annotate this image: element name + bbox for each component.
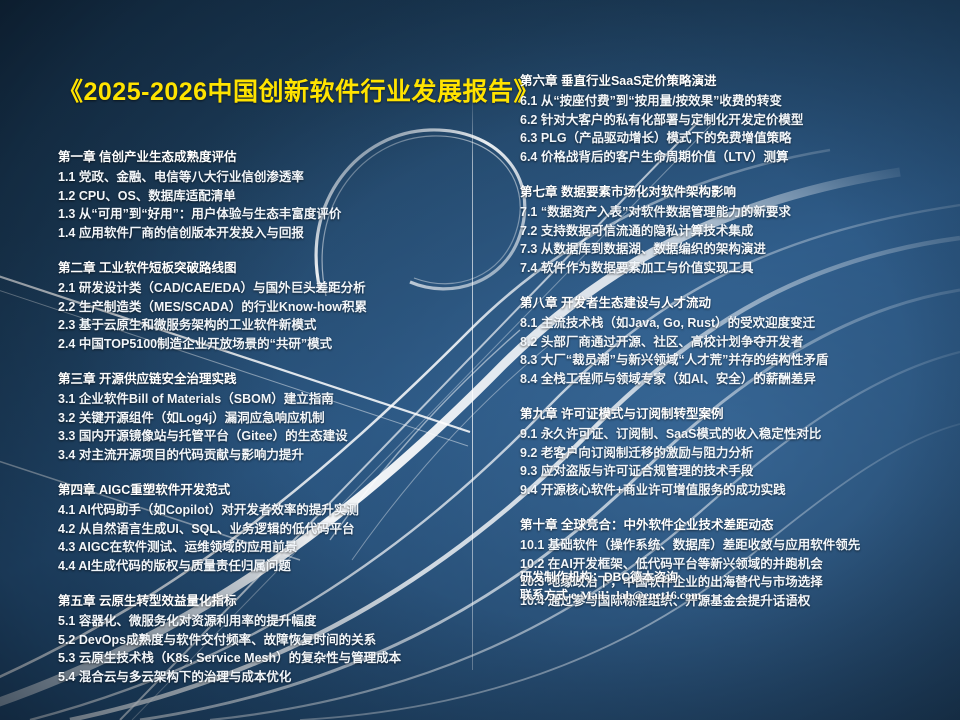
page-title: 《2025-2026中国创新软件行业发展报告》 xyxy=(58,72,539,108)
chapter-title: 第七章 数据要素市场化对软件架构影响 xyxy=(520,183,940,201)
chapter-item: 6.4 价格战背后的客户生命周期价值（LTV）测算 xyxy=(520,148,940,167)
chapter-block: 第二章 工业软件短板突破路线图 2.1 研发设计类（CAD/CAE/EDA）与国… xyxy=(58,259,478,353)
chapter-item: 6.1 从“按座付费”到“按用量/按效果”收费的转变 xyxy=(520,92,940,111)
chapter-item: 7.4 软件作为数据要素加工与价值实现工具 xyxy=(520,259,940,278)
chapter-title: 第二章 工业软件短板突破路线图 xyxy=(58,259,478,277)
chapter-item: 4.3 AIGC在软件测试、运维领域的应用前景 xyxy=(58,538,478,557)
chapter-title: 第五章 云原生转型效益量化指标 xyxy=(58,592,478,610)
chapter-item: 3.3 国内开源镜像站与托管平台（Gitee）的生态建设 xyxy=(58,427,478,446)
chapter-item: 8.4 全栈工程师与领域专家（如AI、安全）的薪酬差异 xyxy=(520,370,940,389)
chapter-item: 1.2 CPU、OS、数据库适配清单 xyxy=(58,187,478,206)
footer-contact-email: 联系方式 e-Mail：lab@enet16.com xyxy=(520,586,701,604)
chapter-title: 第三章 开源供应链安全治理实践 xyxy=(58,370,478,388)
toc-right-column: 第六章 垂直行业SaaS定价策略演进 6.1 从“按座付费”到“按用量/按效果”… xyxy=(520,72,940,610)
chapter-item: 5.3 云原生技术栈（K8s, Service Mesh）的复杂性与管理成本 xyxy=(58,649,478,668)
chapter-block: 第八章 开发者生态建设与人才流动 8.1 主流技术栈（如Java, Go, Ru… xyxy=(520,294,940,388)
chapter-item: 1.3 从“可用”到“好用”：用户体验与生态丰富度评价 xyxy=(58,205,478,224)
chapter-title: 第四章 AIGC重塑软件开发范式 xyxy=(58,481,478,499)
chapter-item: 4.2 从自然语言生成UI、SQL、业务逻辑的低代码平台 xyxy=(58,520,478,539)
chapter-item: 1.4 应用软件厂商的信创版本开发投入与回报 xyxy=(58,224,478,243)
chapter-item: 7.2 支持数据可信流通的隐私计算技术集成 xyxy=(520,222,940,241)
chapter-title: 第十章 全球竞合：中外软件企业技术差距动态 xyxy=(520,516,940,534)
chapter-item: 6.2 针对大客户的私有化部署与定制化开发定价模型 xyxy=(520,111,940,130)
footer-organization: 研发制作机构：DBC德本咨询 xyxy=(520,568,701,586)
chapter-item: 3.1 企业软件Bill of Materials（SBOM）建立指南 xyxy=(58,390,478,409)
chapter-item: 4.4 AI生成代码的版权与质量责任归属问题 xyxy=(58,557,478,576)
chapter-item: 7.3 从数据库到数据湖、数据编织的架构演进 xyxy=(520,240,940,259)
chapter-item: 2.1 研发设计类（CAD/CAE/EDA）与国外巨头差距分析 xyxy=(58,279,478,298)
chapter-block: 第九章 许可证模式与订阅制转型案例 9.1 永久许可证、订阅制、SaaS模式的收… xyxy=(520,405,940,499)
chapter-item: 5.2 DevOps成熟度与软件交付频率、故障恢复时间的关系 xyxy=(58,631,478,650)
chapter-item: 8.1 主流技术栈（如Java, Go, Rust）的受欢迎度变迁 xyxy=(520,314,940,333)
chapter-item: 2.2 生产制造类（MES/SCADA）的行业Know-how积累 xyxy=(58,298,478,317)
presentation-slide: 《2025-2026中国创新软件行业发展报告》 第一章 信创产业生态成熟度评估 … xyxy=(0,0,960,720)
chapter-item: 8.3 大厂“裁员潮”与新兴领域“人才荒”并存的结构性矛盾 xyxy=(520,351,940,370)
chapter-block: 第一章 信创产业生态成熟度评估 1.1 党政、金融、电信等八大行业信创渗透率 1… xyxy=(58,148,478,242)
chapter-block: 第七章 数据要素市场化对软件架构影响 7.1 “数据资产入表”对软件数据管理能力… xyxy=(520,183,940,277)
chapter-item: 2.4 中国TOP5100制造企业开放场景的“共研”模式 xyxy=(58,335,478,354)
chapter-item: 3.4 对主流开源项目的代码贡献与影响力提升 xyxy=(58,446,478,465)
chapter-title: 第六章 垂直行业SaaS定价策略演进 xyxy=(520,72,940,90)
chapter-item: 10.1 基础软件（操作系统、数据库）差距收敛与应用软件领先 xyxy=(520,536,940,555)
footer-credits: 研发制作机构：DBC德本咨询 联系方式 e-Mail：lab@enet16.co… xyxy=(520,568,701,604)
chapter-item: 9.1 永久许可证、订阅制、SaaS模式的收入稳定性对比 xyxy=(520,425,940,444)
chapter-item: 5.1 容器化、微服务化对资源利用率的提升幅度 xyxy=(58,612,478,631)
chapter-block: 第四章 AIGC重塑软件开发范式 4.1 AI代码助手（如Copilot）对开发… xyxy=(58,481,478,575)
chapter-title: 第八章 开发者生态建设与人才流动 xyxy=(520,294,940,312)
chapter-item: 5.4 混合云与多云架构下的治理与成本优化 xyxy=(58,668,478,687)
chapter-item: 9.2 老客户向订阅制迁移的激励与阻力分析 xyxy=(520,444,940,463)
chapter-item: 9.3 应对盗版与许可证合规管理的技术手段 xyxy=(520,462,940,481)
chapter-item: 1.1 党政、金融、电信等八大行业信创渗透率 xyxy=(58,168,478,187)
chapter-title: 第九章 许可证模式与订阅制转型案例 xyxy=(520,405,940,423)
chapter-item: 3.2 关键开源组件（如Log4j）漏洞应急响应机制 xyxy=(58,409,478,428)
chapter-item: 8.2 头部厂商通过开源、社区、高校计划争夺开发者 xyxy=(520,333,940,352)
chapter-item: 6.3 PLG（产品驱动增长）模式下的免费增值策略 xyxy=(520,129,940,148)
chapter-block: 第六章 垂直行业SaaS定价策略演进 6.1 从“按座付费”到“按用量/按效果”… xyxy=(520,72,940,166)
chapter-item: 2.3 基于云原生和微服务架构的工业软件新模式 xyxy=(58,316,478,335)
chapter-block: 第三章 开源供应链安全治理实践 3.1 企业软件Bill of Material… xyxy=(58,370,478,464)
chapter-item: 9.4 开源核心软件+商业许可增值服务的成功实践 xyxy=(520,481,940,500)
chapter-block: 第五章 云原生转型效益量化指标 5.1 容器化、微服务化对资源利用率的提升幅度 … xyxy=(58,592,478,686)
chapter-item: 4.1 AI代码助手（如Copilot）对开发者效率的提升实测 xyxy=(58,501,478,520)
chapter-item: 7.1 “数据资产入表”对软件数据管理能力的新要求 xyxy=(520,203,940,222)
toc-left-column: 第一章 信创产业生态成熟度评估 1.1 党政、金融、电信等八大行业信创渗透率 1… xyxy=(58,148,478,686)
chapter-title: 第一章 信创产业生态成熟度评估 xyxy=(58,148,478,166)
